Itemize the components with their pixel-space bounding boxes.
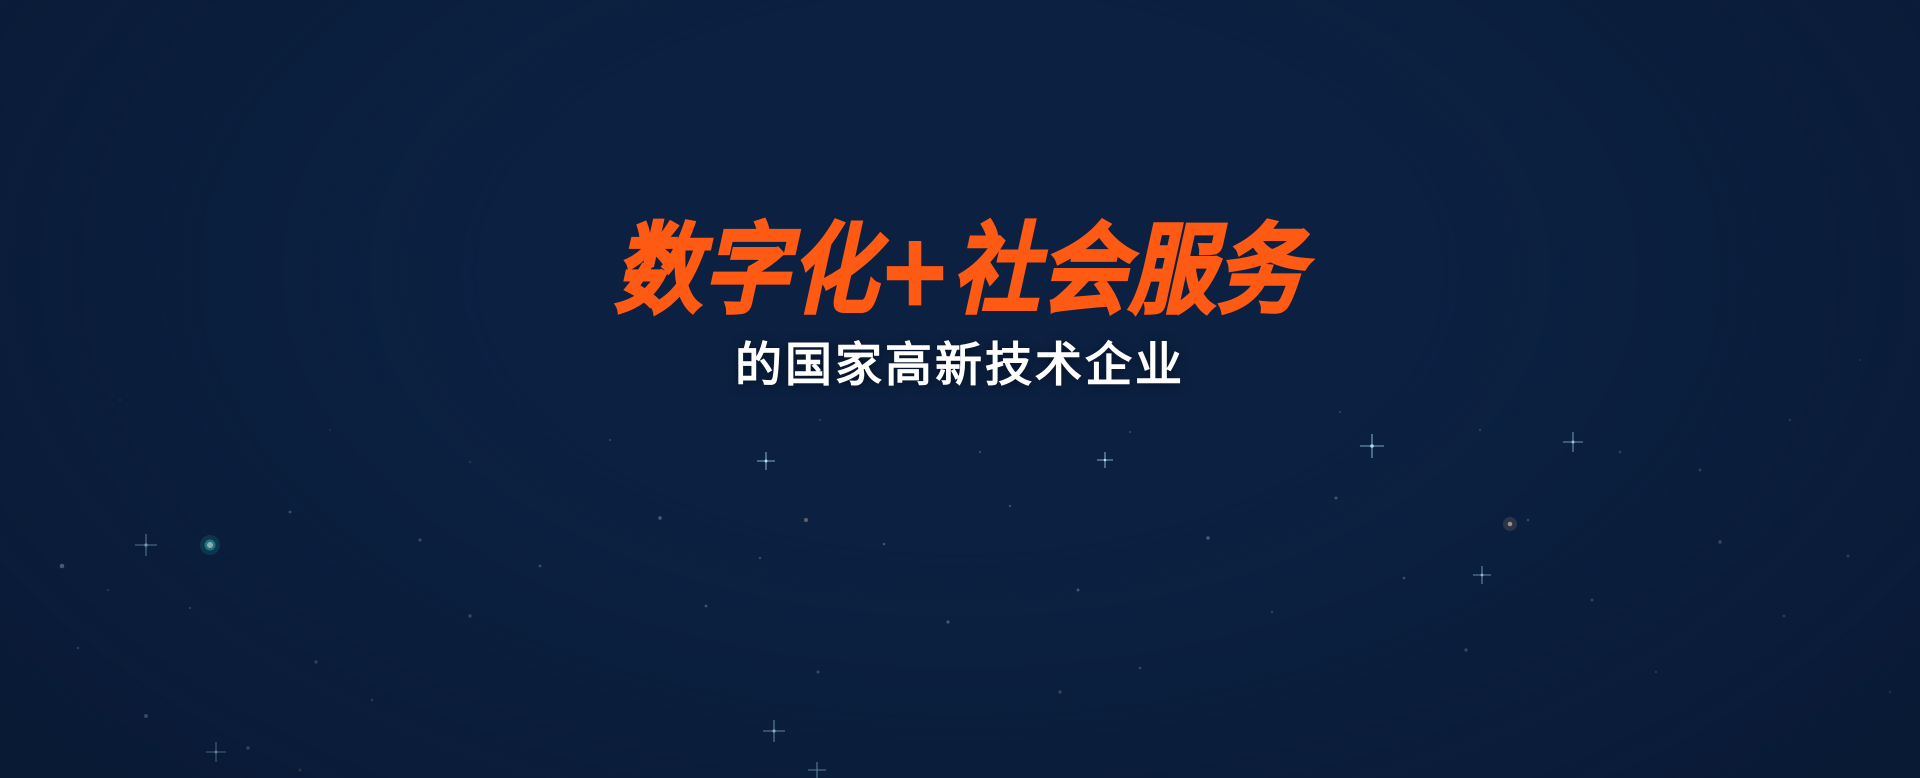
hero-banner: 数字化+社会服务 的国家高新技术企业 (0, 0, 1920, 778)
page-title: 数字化+社会服务 (0, 222, 1920, 320)
hero-text-block: 数字化+社会服务 的国家高新技术企业 (0, 222, 1920, 389)
